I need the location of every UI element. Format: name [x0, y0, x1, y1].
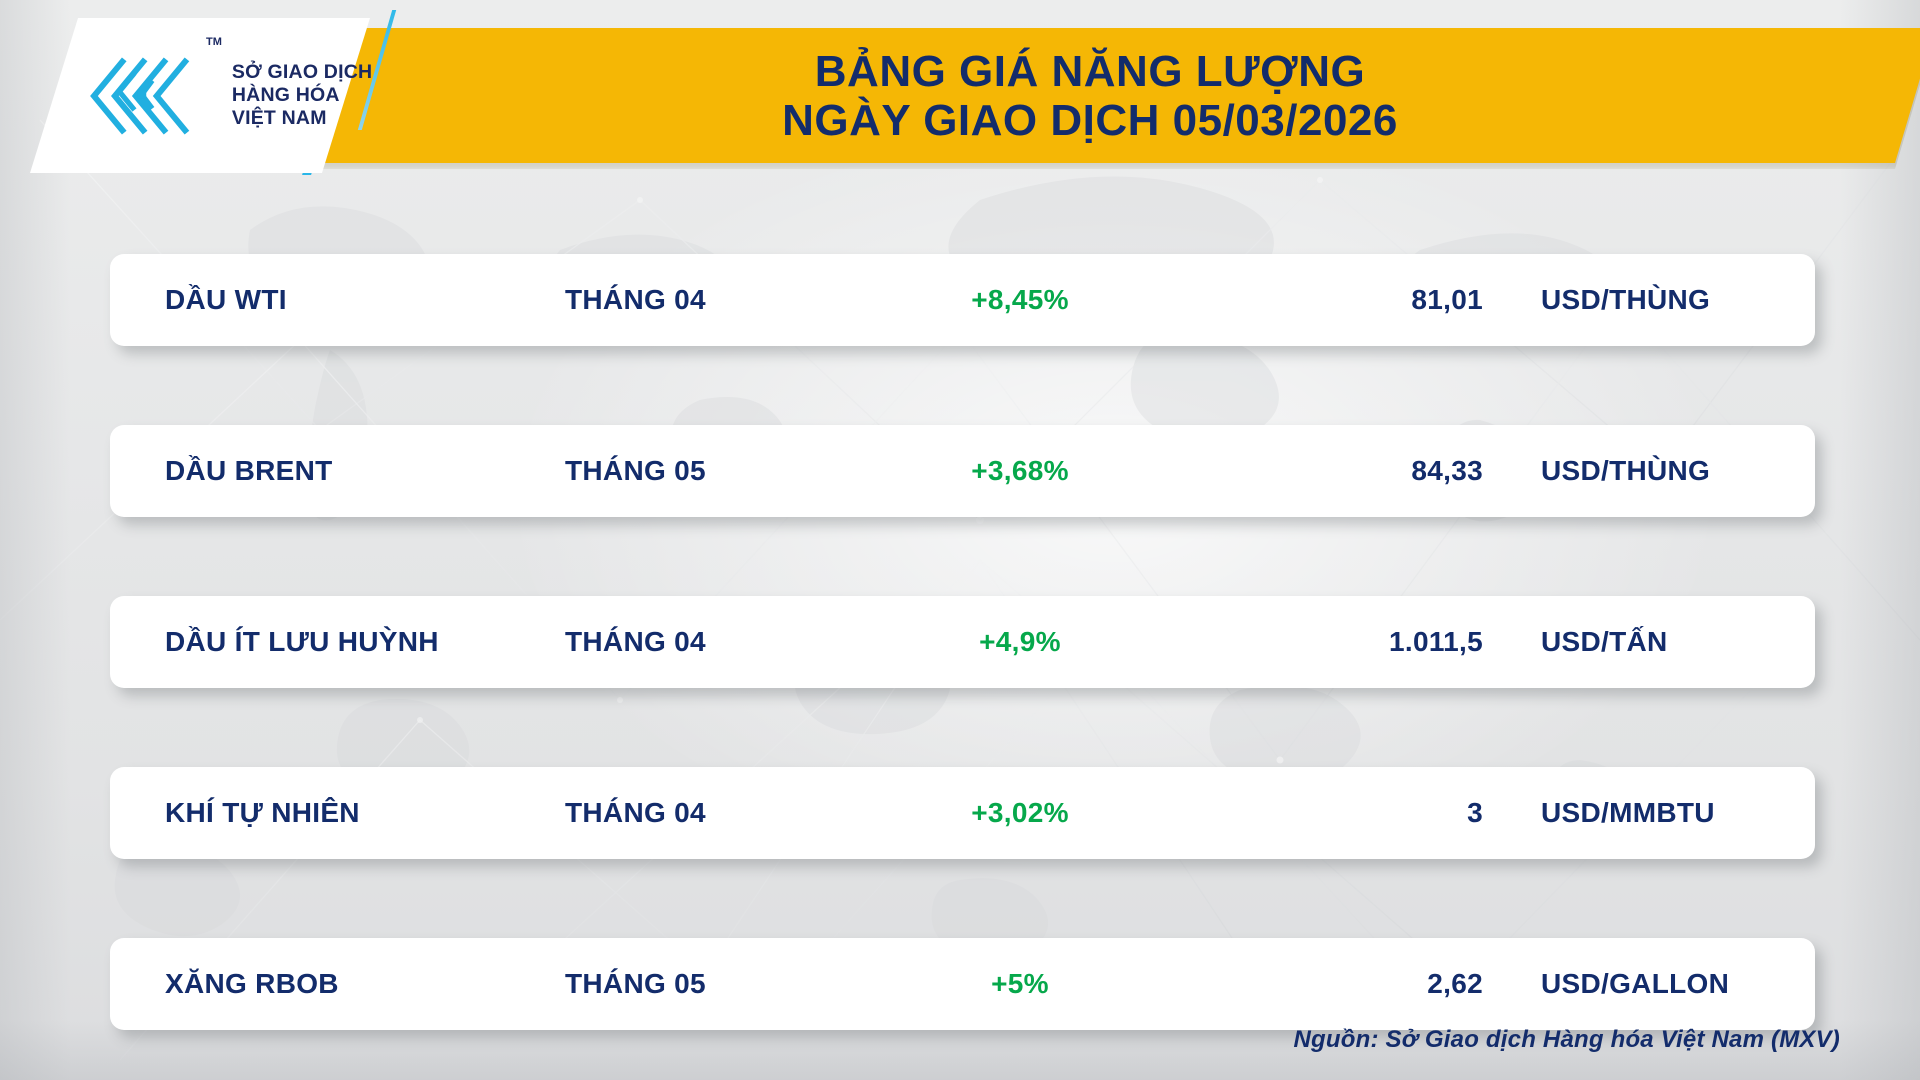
page-title: BẢNG GIÁ NĂNG LƯỢNG NGÀY GIAO DỊCH 05/03… — [430, 32, 1750, 160]
price-value: 1.011,5 — [1185, 626, 1505, 658]
logo-lockup: TM SỞ GIAO DỊCH HÀNG HÓA VIỆT NAM — [30, 18, 370, 173]
price-value: 81,01 — [1185, 284, 1505, 316]
price-value: 2,62 — [1185, 968, 1505, 1000]
commodity-name: DẦU ÍT LƯU HUỲNH — [110, 626, 565, 658]
price-unit: USD/MMBTU — [1505, 797, 1815, 829]
price-value: 3 — [1185, 797, 1505, 829]
price-table: DẦU WTI THÁNG 04 +8,45% 81,01 USD/THÙNG … — [110, 254, 1815, 1030]
source-note: Nguồn: Sở Giao dịch Hàng hóa Việt Nam (M… — [1293, 1026, 1840, 1054]
change-percent: +4,9% — [855, 626, 1185, 658]
logo-line-2: HÀNG HÓA — [232, 84, 372, 107]
commodity-name: DẦU BRENT — [110, 455, 565, 487]
change-percent: +3,68% — [855, 455, 1185, 487]
mxv-maze-logo-icon — [88, 57, 200, 135]
contract-month: THÁNG 04 — [565, 284, 855, 316]
table-row[interactable]: DẦU BRENT THÁNG 05 +3,68% 84,33 USD/THÙN… — [110, 425, 1815, 517]
contract-month: THÁNG 05 — [565, 968, 855, 1000]
logo-line-1: SỞ GIAO DỊCH — [232, 61, 372, 84]
logo-wordmark: SỞ GIAO DỊCH HÀNG HÓA VIỆT NAM — [232, 61, 372, 130]
change-percent: +3,02% — [855, 797, 1185, 829]
title-line-1: BẢNG GIÁ NĂNG LƯỢNG — [815, 47, 1365, 96]
price-unit: USD/TẤN — [1505, 626, 1815, 658]
table-row[interactable]: DẦU WTI THÁNG 04 +8,45% 81,01 USD/THÙNG — [110, 254, 1815, 346]
change-percent: +8,45% — [855, 284, 1185, 316]
table-row[interactable]: KHÍ TỰ NHIÊN THÁNG 04 +3,02% 3 USD/MMBTU — [110, 767, 1815, 859]
trademark-symbol: TM — [206, 36, 222, 48]
logo-line-3: VIỆT NAM — [232, 107, 372, 130]
table-row[interactable]: DẦU ÍT LƯU HUỲNH THÁNG 04 +4,9% 1.011,5 … — [110, 596, 1815, 688]
price-unit: USD/GALLON — [1505, 968, 1815, 1000]
energy-price-board: TM SỞ GIAO DỊCH HÀNG HÓA VIỆT NAM BẢNG G… — [0, 0, 1920, 1080]
contract-month: THÁNG 04 — [565, 797, 855, 829]
commodity-name: KHÍ TỰ NHIÊN — [110, 797, 565, 829]
price-unit: USD/THÙNG — [1505, 455, 1815, 487]
title-line-2: NGÀY GIAO DỊCH 05/03/2026 — [782, 96, 1398, 145]
header: TM SỞ GIAO DỊCH HÀNG HÓA VIỆT NAM BẢNG G… — [0, 0, 1920, 190]
commodity-name: XĂNG RBOB — [110, 968, 565, 1000]
table-row[interactable]: XĂNG RBOB THÁNG 05 +5% 2,62 USD/GALLON — [110, 938, 1815, 1030]
contract-month: THÁNG 05 — [565, 455, 855, 487]
price-unit: USD/THÙNG — [1505, 284, 1815, 316]
price-value: 84,33 — [1185, 455, 1505, 487]
change-percent: +5% — [855, 968, 1185, 1000]
commodity-name: DẦU WTI — [110, 284, 565, 316]
contract-month: THÁNG 04 — [565, 626, 855, 658]
